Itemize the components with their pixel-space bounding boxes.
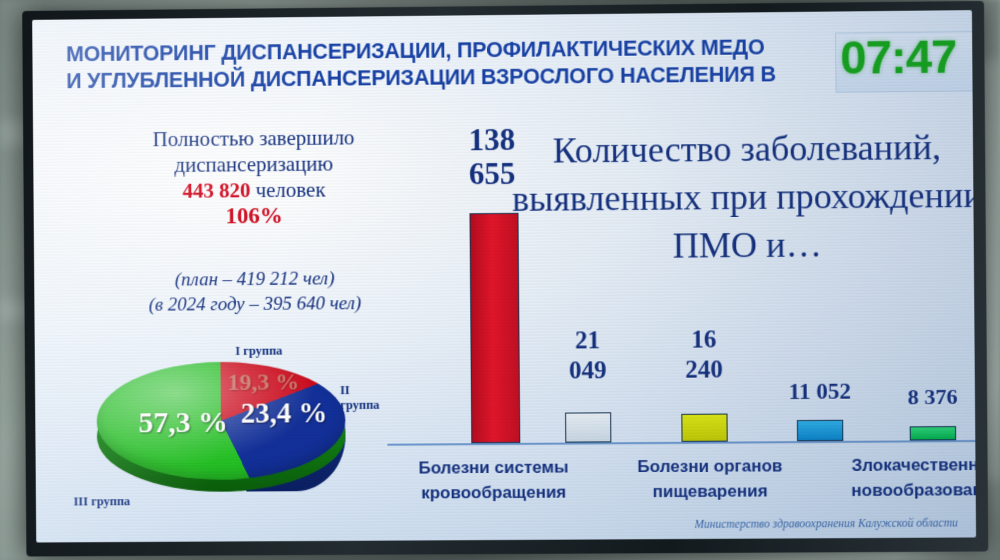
lead-count-unit: человек (255, 178, 325, 203)
lead-line-1: Полностью завершило (104, 124, 403, 153)
bar-2 (565, 412, 611, 442)
clock-time: 07:47 (840, 28, 957, 84)
category-label-3: Злокачественные новообразования (818, 452, 976, 503)
lead-count-value: 443 820 (182, 178, 250, 203)
bar-value-4: 11 052 (769, 378, 870, 405)
bar-4 (797, 420, 843, 441)
lead-text-block: Полностью завершило диспансеризацию 443 … (104, 124, 403, 230)
bar-value-3: 16 240 (661, 325, 748, 386)
pie-slice-label-group3: 57,3 % (128, 406, 238, 440)
chart-headline: Количество заболеваний, выявленных при п… (486, 122, 976, 271)
slide-footer: Министерство здравоохранения Калужской о… (694, 517, 958, 530)
bar-value-5: 8 376 (886, 384, 976, 411)
presentation-slide: МОНИТОРИНГ ДИСПАНСЕРИЗАЦИИ, ПРОФИЛАКТИЧЕ… (32, 10, 976, 542)
tv-screen: МОНИТОРИНГ ДИСПАНСЕРИЗАЦИИ, ПРОФИЛАКТИЧЕ… (32, 10, 976, 542)
pie-legend-group3: III группа (74, 494, 131, 509)
bar-chart-categories: Болезни системы кровообращения Болезни о… (386, 452, 977, 518)
lead-percent: 106% (105, 202, 404, 230)
pie-legend-group1: I группа (235, 344, 282, 359)
category-label-1: Болезни системы кровообращения (386, 454, 602, 505)
pie-chart: 19,3 % 23,4 % 57,3 % I группа II группа … (96, 361, 356, 502)
tv-bezel: МОНИТОРИНГ ДИСПАНСЕРИЗАЦИИ, ПРОФИЛАКТИЧЕ… (22, 1, 988, 557)
bar-value-2: 21 049 (544, 326, 631, 387)
plan-line-1: (план – 419 212 чел) (96, 266, 415, 293)
plan-block: (план – 419 212 чел) (в 2024 году – 395 … (96, 266, 415, 318)
clock-overlay: 07:47 (836, 32, 976, 92)
osd-dot-icon (975, 60, 976, 66)
bar-5 (910, 426, 956, 440)
category-label-2: Болезни органов пищеварения (601, 453, 818, 504)
pie-slice-label-group2: 23,4 % (241, 397, 328, 431)
lead-line-2: диспансеризацию (105, 150, 404, 179)
screenshot-root: МОНИТОРИНГ ДИСПАНСЕРИЗАЦИИ, ПРОФИЛАКТИЧЕ… (0, 0, 1000, 560)
plan-line-2: (в 2024 году – 395 640 чел) (96, 291, 415, 318)
pie-slice-label-group1: 19,3 % (227, 369, 299, 396)
bar-3 (681, 414, 727, 442)
lead-count-row: 443 820 человек (105, 176, 404, 205)
slide-title: МОНИТОРИНГ ДИСПАНСЕРИЗАЦИИ, ПРОФИЛАКТИЧЕ… (66, 32, 946, 95)
